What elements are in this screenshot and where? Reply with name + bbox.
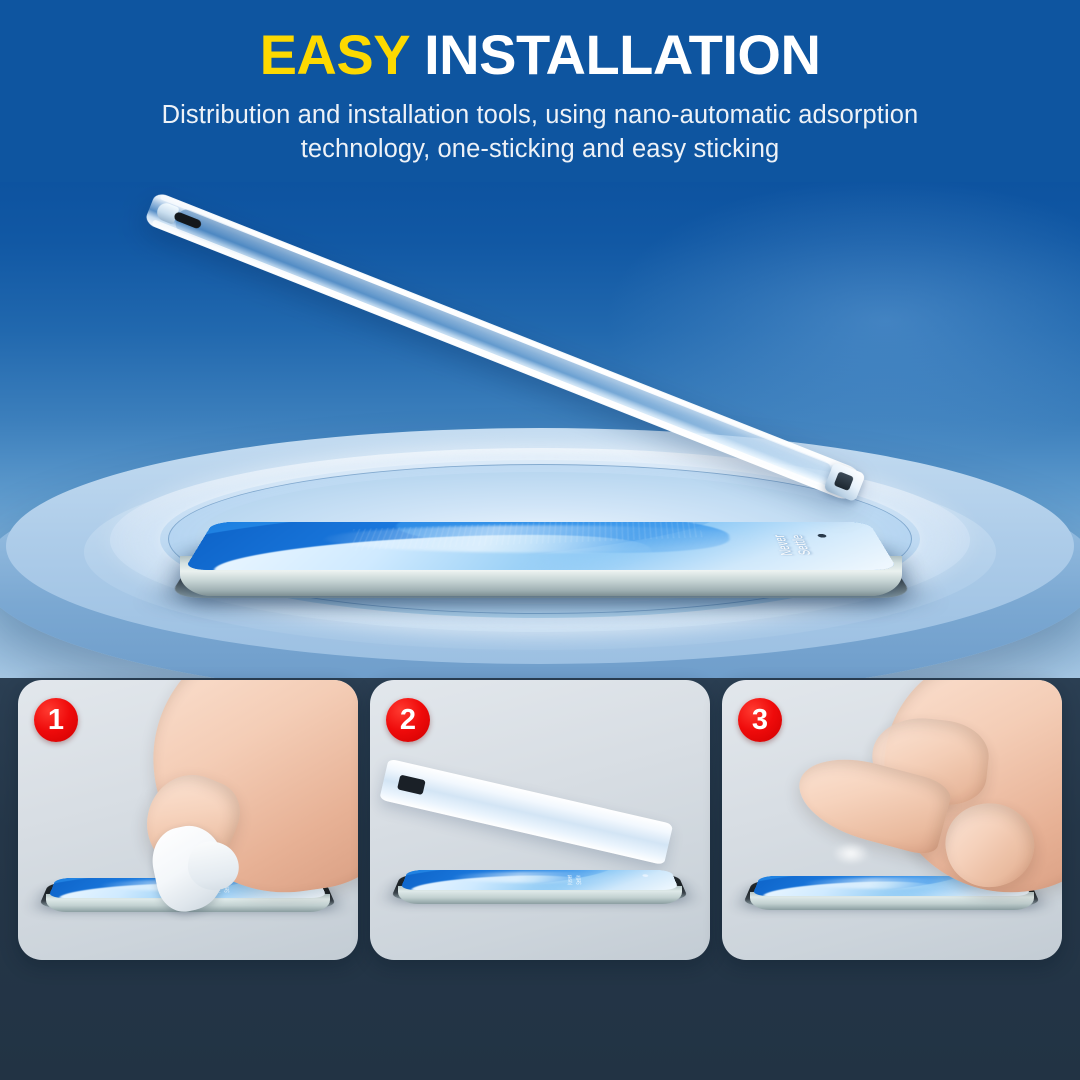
steps-card-row: 1 Never Settle: [18, 680, 1062, 960]
step-2-glass-notch: [396, 775, 425, 795]
step-card-2[interactable]: 2 Never Settle: [370, 680, 710, 960]
page-title-rest: INSTALLATION: [409, 23, 820, 86]
step-badge-1: 1: [34, 698, 78, 742]
product-infographic: EASY INSTALLATION Distribution and insta…: [0, 0, 1080, 1080]
wallpaper-sheen: [319, 525, 762, 552]
step-3-wallpaper-sheen: [804, 877, 979, 888]
step-3-phone-screen: [752, 876, 1031, 896]
step-2-wallpaper: [400, 870, 679, 890]
step-badge-3: 3: [738, 698, 782, 742]
step-2-phone-screen: Never Settle: [400, 870, 679, 890]
hero-phone-screen: Never Settle: [184, 522, 898, 570]
header-subtitle-line-2: technology, one-sticking and easy sticki…: [0, 132, 1080, 166]
hero-illustration: Never Settle: [0, 182, 1080, 678]
header-banner: EASY INSTALLATION Distribution and insta…: [0, 0, 1080, 182]
hero-phone: Never Settle: [168, 450, 914, 598]
step-2-screen-text: Never Settle: [565, 875, 583, 885]
header-subtitle: Distribution and installation tools, usi…: [0, 98, 1080, 166]
header-subtitle-line-1: Distribution and installation tools, usi…: [0, 98, 1080, 132]
step-card-3[interactable]: 3: [722, 680, 1062, 960]
step-badge-2: 2: [386, 698, 430, 742]
pedestal-group: [0, 182, 1080, 678]
step-1-hand-knuckles: [202, 697, 318, 820]
steps-section: 1 Never Settle: [0, 678, 1080, 1080]
step-3-phone: [742, 848, 1041, 906]
page-title: EASY INSTALLATION: [0, 24, 1080, 86]
step-2-wallpaper-sheen: [452, 871, 627, 882]
step-3-wallpaper: [752, 876, 1031, 896]
step-card-1[interactable]: 1 Never Settle: [18, 680, 358, 960]
step-3-hand-middle-finger: [868, 713, 992, 809]
step-3-hand-index-finger: [790, 746, 954, 858]
step-2-phone: Never Settle: [390, 842, 689, 900]
page-title-highlight: EASY: [260, 23, 409, 86]
